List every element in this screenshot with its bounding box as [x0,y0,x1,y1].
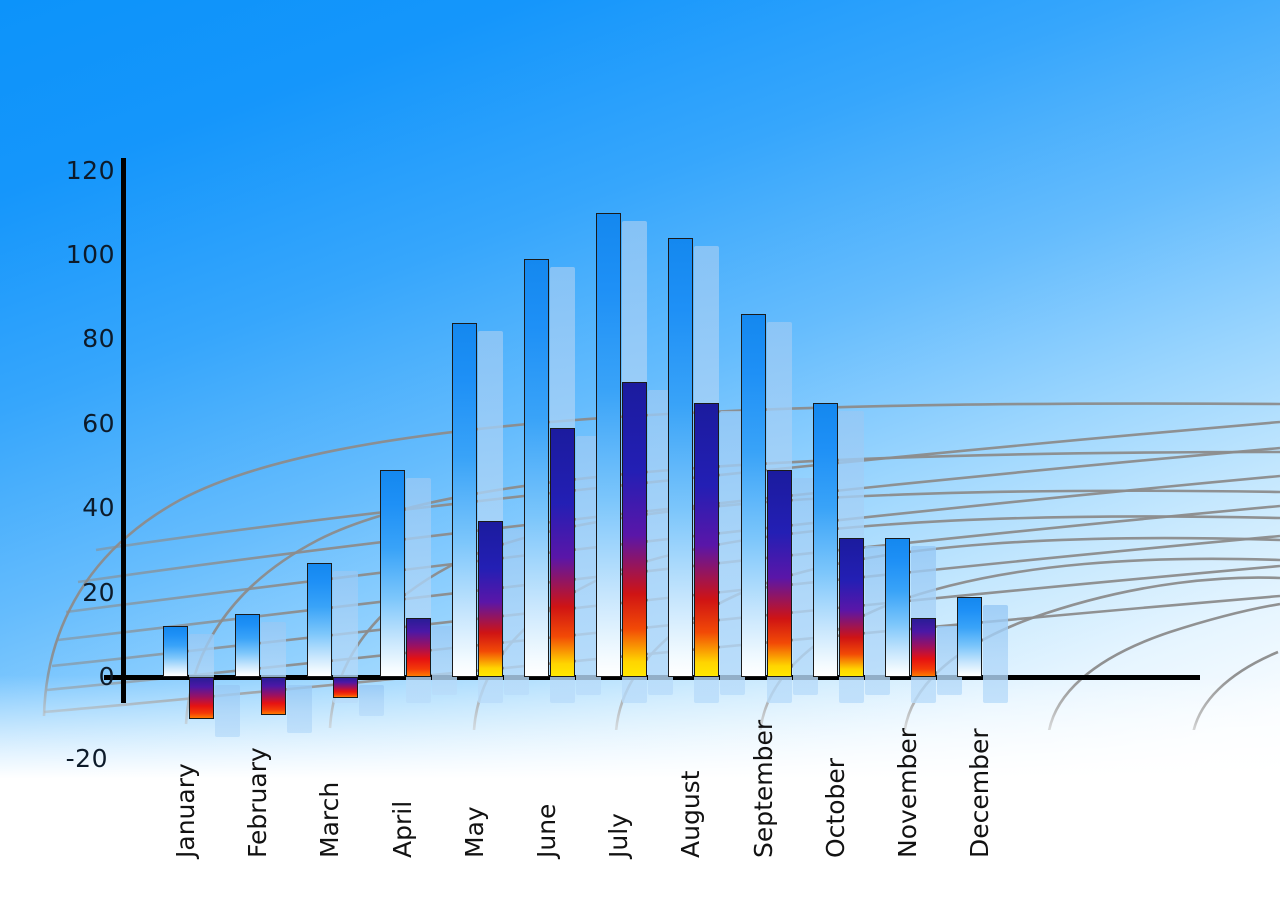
y-tick-20: 20 [45,580,115,605]
bar-february-series2[interactable] [261,677,286,715]
bar-january-series1[interactable] [163,626,188,677]
x-label-august: August [678,771,703,859]
x-label-april: April [390,801,415,858]
bar-shadow-march-series2 [359,685,384,716]
y-tick-120: 120 [45,158,115,183]
bar-november-series2[interactable] [911,618,936,677]
bar-june-series1[interactable] [524,259,549,677]
bar-april-series1[interactable] [380,470,405,677]
bar-october-series2[interactable] [839,538,864,677]
y-tick-60: 60 [45,411,115,436]
x-label-january: January [173,763,198,858]
bar-february-series1[interactable] [235,614,260,677]
bar-september-series2[interactable] [767,470,792,677]
bar-september-series1[interactable] [741,314,766,677]
y-tick-neg20: -20 [38,746,108,771]
bar-december-series1[interactable] [957,597,982,677]
bar-march-series1[interactable] [307,563,332,677]
chart-canvas: 120100806040200-20 JanuaryFebruaryMarchA… [0,0,1280,905]
x-label-june: June [534,804,559,858]
bar-june-series2[interactable] [550,428,575,677]
bar-march-series2[interactable] [333,677,358,698]
bar-january-series2[interactable] [189,677,214,719]
bar-july-series2[interactable] [622,382,647,677]
x-label-july: July [606,813,631,858]
x-label-march: March [317,782,342,858]
y-tick-100: 100 [45,242,115,267]
y-tick-40: 40 [45,495,115,520]
x-label-may: May [462,806,487,858]
x-label-november: November [895,728,920,858]
bar-may-series2[interactable] [478,521,503,677]
x-label-february: February [245,747,270,858]
bar-april-series2[interactable] [406,618,431,677]
bar-october-series1[interactable] [813,403,838,677]
y-tick-80: 80 [45,326,115,351]
bar-august-series1[interactable] [668,238,693,677]
bar-july-series1[interactable] [596,213,621,677]
plot-area: 120100806040200-20 JanuaryFebruaryMarchA… [0,0,1280,905]
x-label-december: December [967,728,992,858]
bar-shadow-december-series1 [983,605,1008,703]
bar-shadow-january-series2 [215,685,240,737]
bar-november-series1[interactable] [885,538,910,677]
bar-shadow-february-series2 [287,685,312,733]
bar-august-series2[interactable] [694,403,719,677]
bar-may-series1[interactable] [452,323,477,677]
x-label-september: September [751,720,776,858]
y-axis-line [121,158,126,703]
y-tick-0: 0 [45,664,115,689]
x-label-october: October [823,758,848,858]
